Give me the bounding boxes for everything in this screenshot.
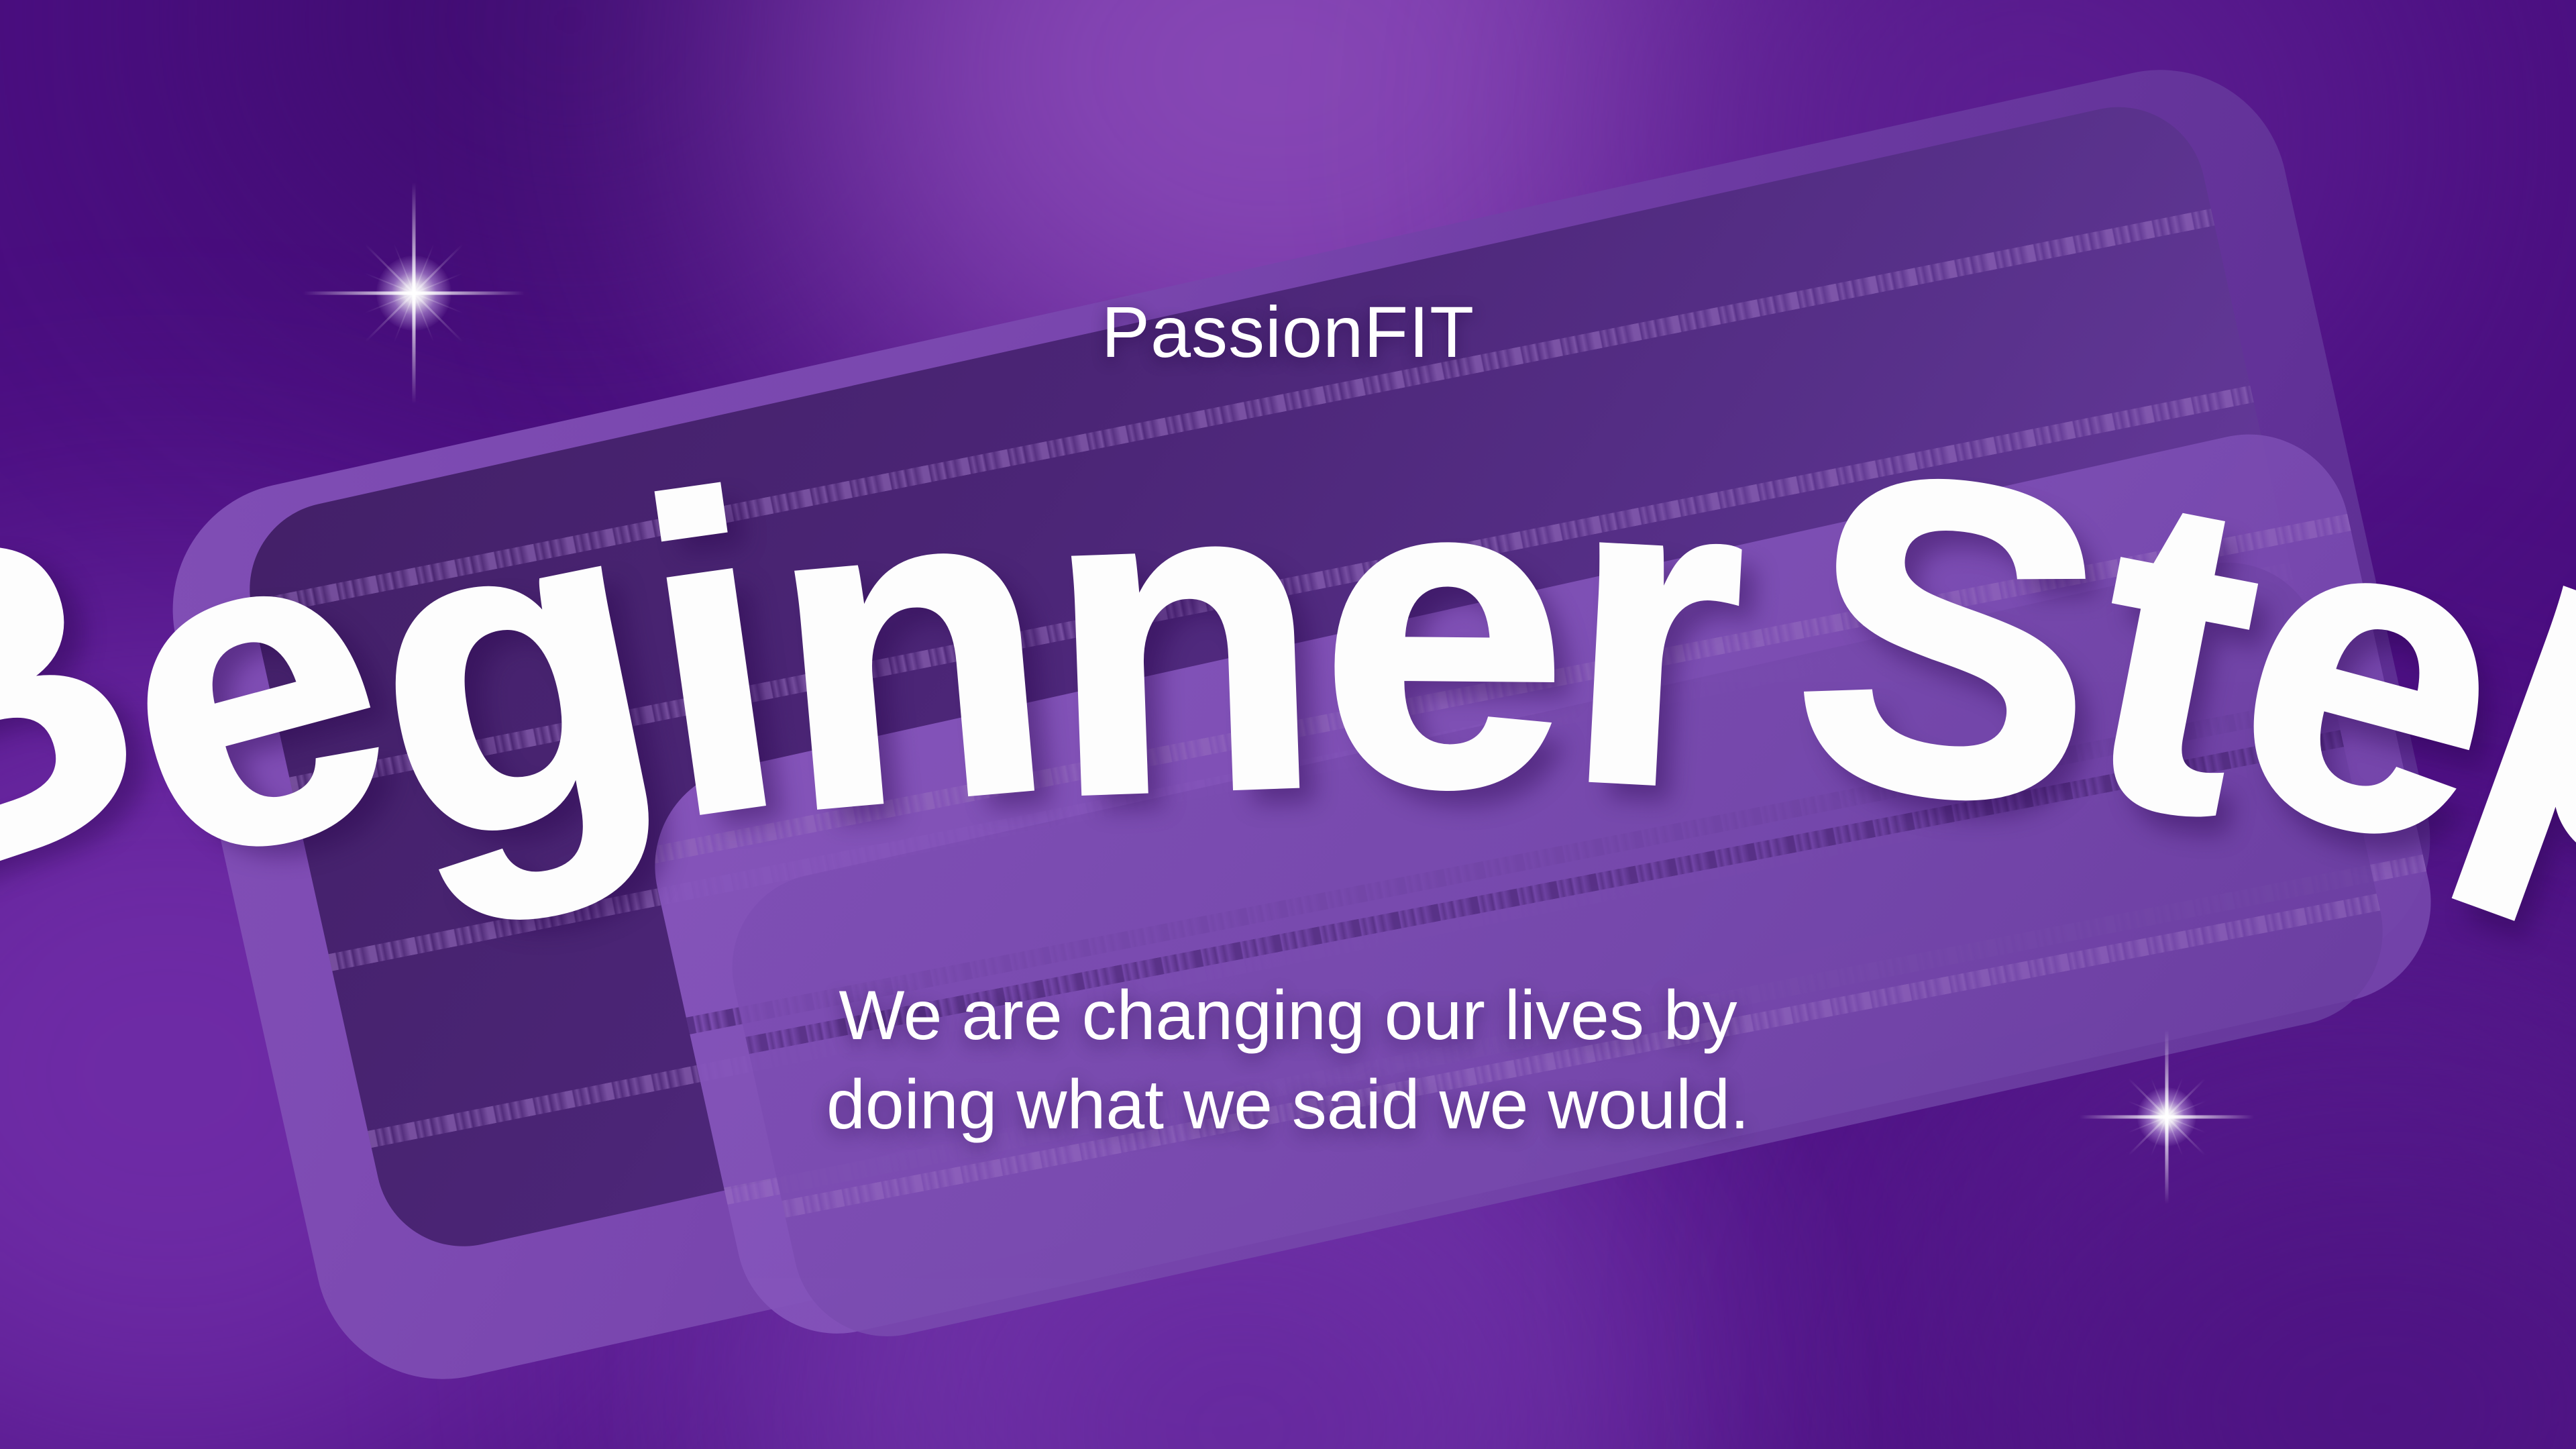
headline-letter: n (758, 430, 1063, 859)
background-glow-blob (1945, 1107, 2576, 1449)
brand-name: PassionFIT (0, 290, 2576, 374)
headline-letter: e (1319, 425, 1568, 835)
headline-letter: r (1558, 421, 1752, 837)
headline-letter: n (1041, 427, 1326, 844)
subtitle-line-2: doing what we said we would. (0, 1061, 2576, 1150)
background-glow-blob (201, 0, 939, 322)
subtitle: We are changing our lives by doing what … (0, 971, 2576, 1150)
subtitle-line-1: We are changing our lives by (0, 971, 2576, 1061)
poster-canvas: PassionFIT Beginner Step We are changing… (0, 0, 2576, 1449)
